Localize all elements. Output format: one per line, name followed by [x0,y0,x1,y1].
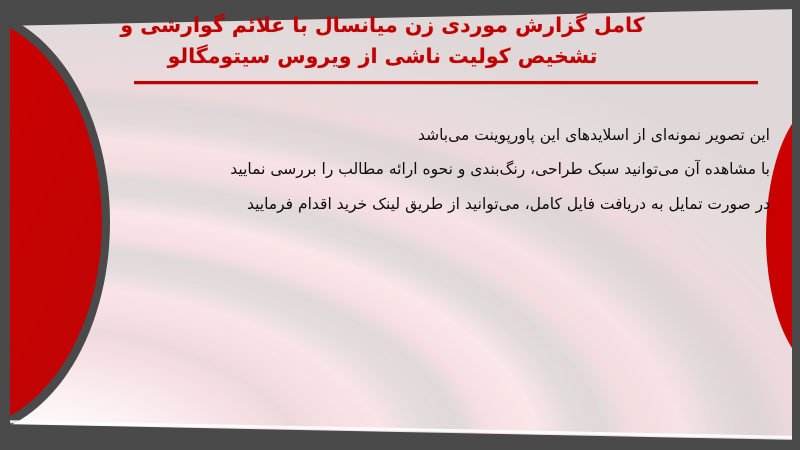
body-line-2: با مشاهده آن می‌توانید سبک طراحی، رنگ‌بن… [30,152,770,186]
title-line-2: تشخیص کولیت ناشی از ویروس سیتومگالو [10,41,755,72]
slide-content: کامل گزارش موردی زن میانسال با علائم گوا… [10,10,792,435]
body-line-1: این تصویر نمونه‌ای از اسلایدهای این پاور… [30,118,770,152]
title-line-1: کامل گزارش موردی زن میانسال با علائم گوا… [10,10,755,41]
slide-title: کامل گزارش موردی زن میانسال با علائم گوا… [10,10,755,72]
body-line-3: در صورت تمایل به دریافت فایل کامل، می‌تو… [30,187,770,221]
presentation-slide: کامل گزارش موردی زن میانسال با علائم گوا… [0,0,800,450]
right-frame-edge [792,0,800,450]
left-frame-edge [0,0,10,450]
slide-body-text: این تصویر نمونه‌ای از اسلایدهای این پاور… [30,118,770,221]
title-underline-rule [134,81,758,84]
